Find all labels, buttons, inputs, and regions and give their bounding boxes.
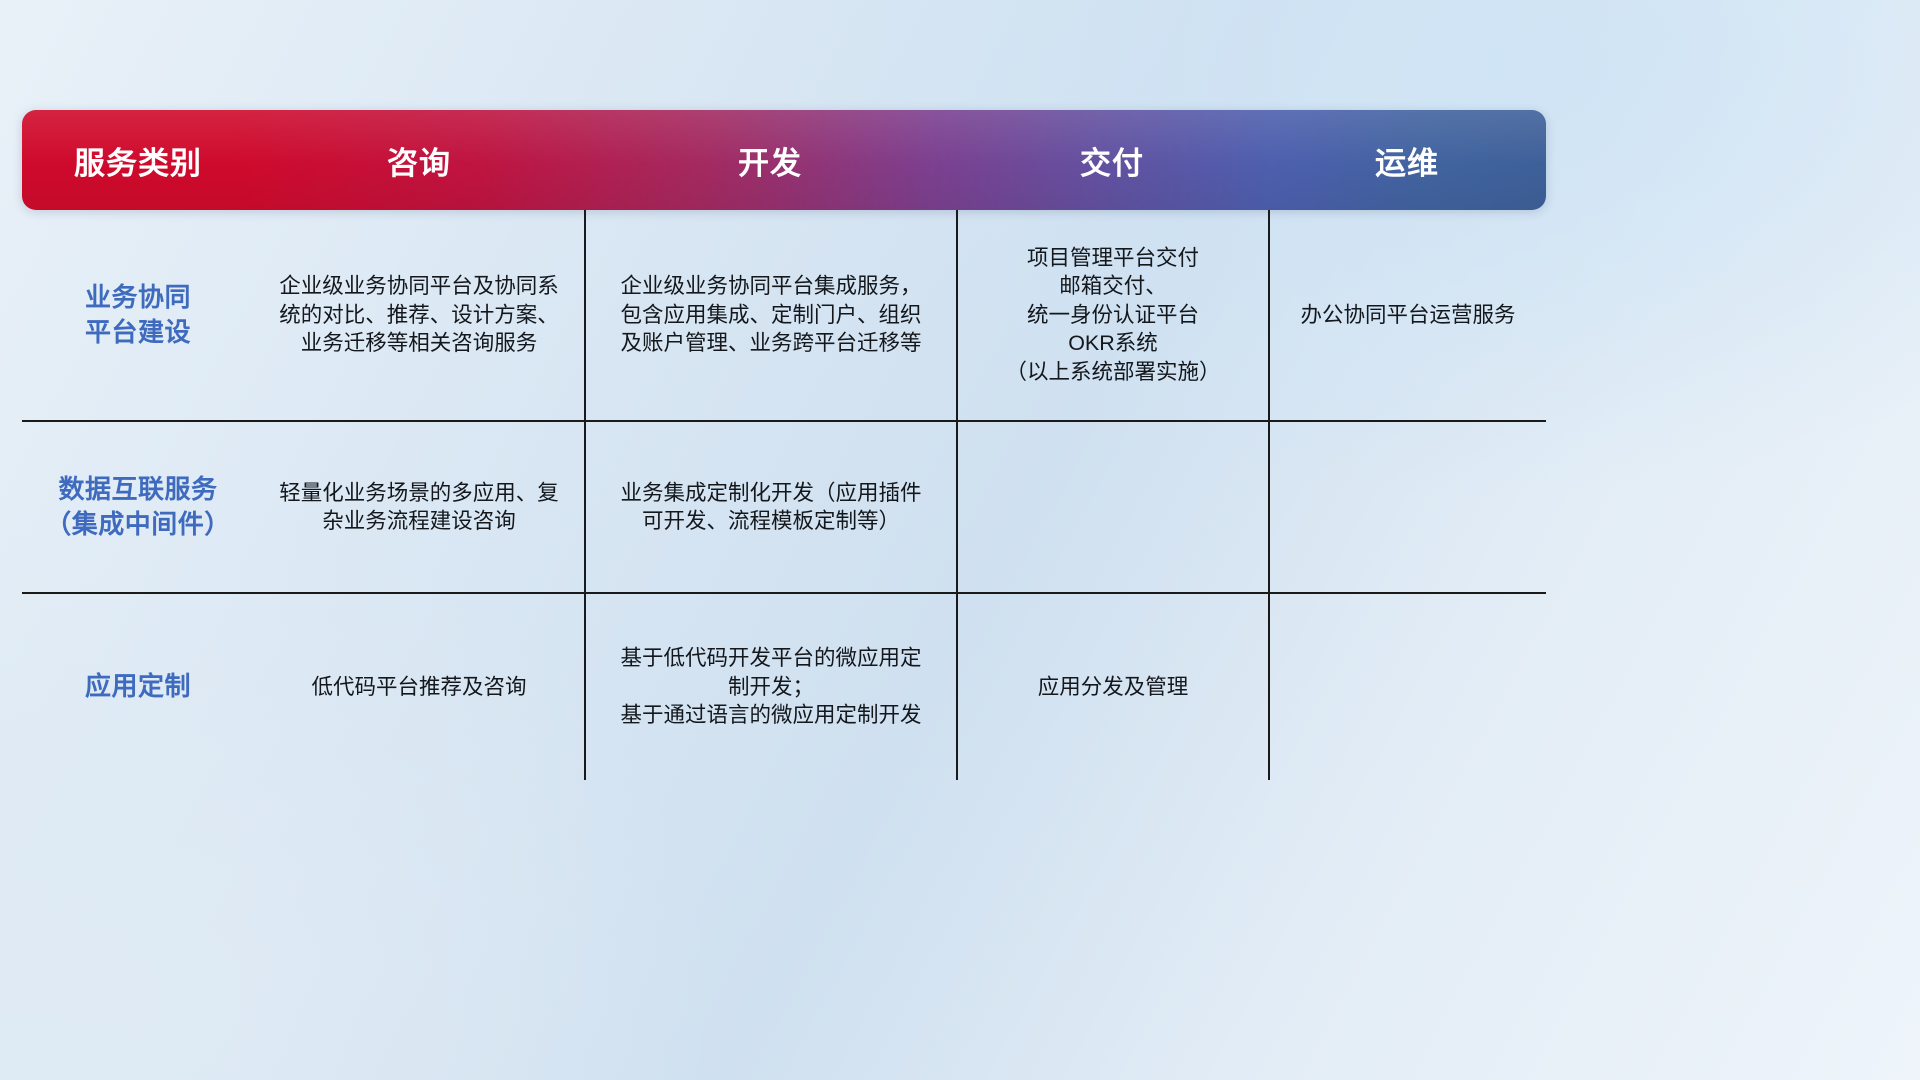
slide-canvas: 服务类别 咨询 开发 交付 运维 业务协同 平台建设 企业级业务协同平台及协同系… xyxy=(0,0,1920,1080)
row-label-app-customization: 应用定制 xyxy=(22,594,254,780)
header-cell-service-category: 服务类别 xyxy=(22,138,254,183)
table-row: 应用定制 低代码平台推荐及咨询 基于低代码开发平台的微应用定 制开发； 基于通过… xyxy=(22,594,1546,780)
cell-consulting: 低代码平台推荐及咨询 xyxy=(254,594,584,780)
row-label-data-integration: 数据互联服务 （集成中间件） xyxy=(22,422,254,592)
cell-operations: 办公协同平台运营服务 xyxy=(1268,210,1546,420)
cell-delivery: 项目管理平台交付 邮箱交付、 统一身份认证平台 OKR系统 （以上系统部署实施） xyxy=(956,210,1268,420)
cell-delivery: 应用分发及管理 xyxy=(956,594,1268,780)
cell-consulting: 企业级业务协同平台及协同系 统的对比、推荐、设计方案、 业务迁移等相关咨询服务 xyxy=(254,210,584,420)
header-cell-development: 开发 xyxy=(584,138,956,183)
table-header-row: 服务类别 咨询 开发 交付 运维 xyxy=(22,110,1546,210)
table-row: 数据互联服务 （集成中间件） 轻量化业务场景的多应用、复 杂业务流程建设咨询 业… xyxy=(22,422,1546,594)
cell-development: 业务集成定制化开发（应用插件 可开发、流程模板定制等） xyxy=(584,422,956,592)
cell-delivery xyxy=(956,422,1268,592)
cell-operations xyxy=(1268,422,1546,592)
header-cell-operations: 运维 xyxy=(1268,138,1546,183)
services-matrix-table: 服务类别 咨询 开发 交付 运维 业务协同 平台建设 企业级业务协同平台及协同系… xyxy=(22,110,1546,778)
cell-development: 基于低代码开发平台的微应用定 制开发； 基于通过语言的微应用定制开发 xyxy=(584,594,956,780)
table-row: 业务协同 平台建设 企业级业务协同平台及协同系 统的对比、推荐、设计方案、 业务… xyxy=(22,210,1546,422)
cell-development: 企业级业务协同平台集成服务， 包含应用集成、定制门户、组织 及账户管理、业务跨平… xyxy=(584,210,956,420)
row-label-business-collaboration: 业务协同 平台建设 xyxy=(22,210,254,420)
header-cell-consulting: 咨询 xyxy=(254,138,584,183)
header-cell-delivery: 交付 xyxy=(956,138,1268,183)
table-body: 业务协同 平台建设 企业级业务协同平台及协同系 统的对比、推荐、设计方案、 业务… xyxy=(22,210,1546,780)
cell-consulting: 轻量化业务场景的多应用、复 杂业务流程建设咨询 xyxy=(254,422,584,592)
cell-operations xyxy=(1268,594,1546,780)
